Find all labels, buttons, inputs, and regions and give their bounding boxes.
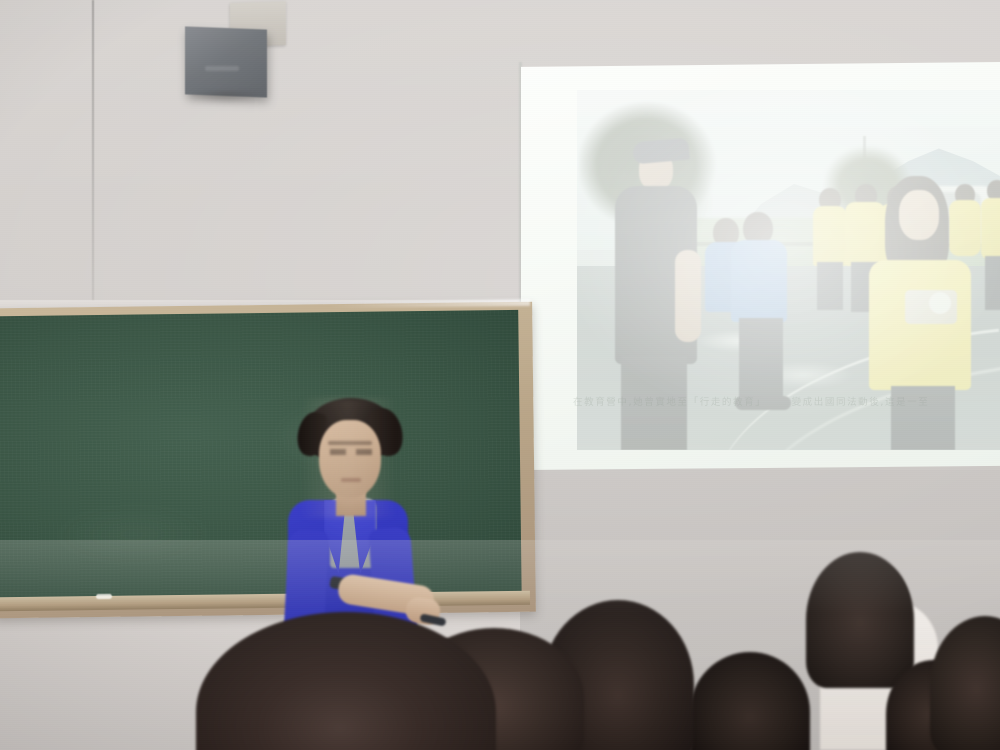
wall-mounted-speaker xyxy=(185,26,267,97)
photo-girl-face xyxy=(899,190,939,240)
slide-caption: 在教育營中,她曾實地至「行走的教育」 變成出國同法動後,這是一至 xyxy=(573,394,1000,408)
chalkboard-smudge-b xyxy=(53,504,214,566)
photo-child-blue-b-legs xyxy=(739,318,783,404)
presenter-eyes xyxy=(330,449,372,455)
photo-child-yellow-a-legs xyxy=(817,262,843,310)
photo-girl-yellow-shirt xyxy=(869,260,971,390)
projection-screen: 在教育營中,她曾實地至「行走的教育」 變成出國同法動後,這是一至 xyxy=(521,62,1000,470)
chalk-piece xyxy=(96,594,112,599)
photo-girl-shirt-logo-circle xyxy=(929,292,951,314)
photo-child-yellow-e xyxy=(981,198,1000,260)
photo-child-yellow-e-legs xyxy=(985,256,1000,310)
presenter-mouth xyxy=(341,478,361,482)
photo-man-arm xyxy=(675,250,701,342)
photo-child-yellow-a xyxy=(813,206,847,266)
projected-slide: 在教育營中,她曾實地至「行走的教育」 變成出國同法動後,這是一至 xyxy=(521,62,1000,470)
photo-child-yellow-d xyxy=(949,200,981,256)
photo-child-blue-b xyxy=(731,240,787,322)
chalkboard-surface xyxy=(0,310,522,604)
presenter-brow xyxy=(328,441,372,445)
presenter-face xyxy=(319,420,381,498)
speaker-grill xyxy=(205,66,239,71)
speaker-shadow xyxy=(188,92,264,104)
slide-caption-line-1: 在教育營中,她曾實地至「行走的教育」 xyxy=(573,397,766,408)
green-chalkboard xyxy=(0,302,536,619)
slide-caption-line-2: 變成出國同法動後,這是一至 xyxy=(792,397,930,408)
classroom-photo-scene: 在教育營中,她曾實地至「行走的教育」 變成出國同法動後,這是一至 xyxy=(0,0,1000,750)
audience-head-far-right xyxy=(806,552,914,688)
